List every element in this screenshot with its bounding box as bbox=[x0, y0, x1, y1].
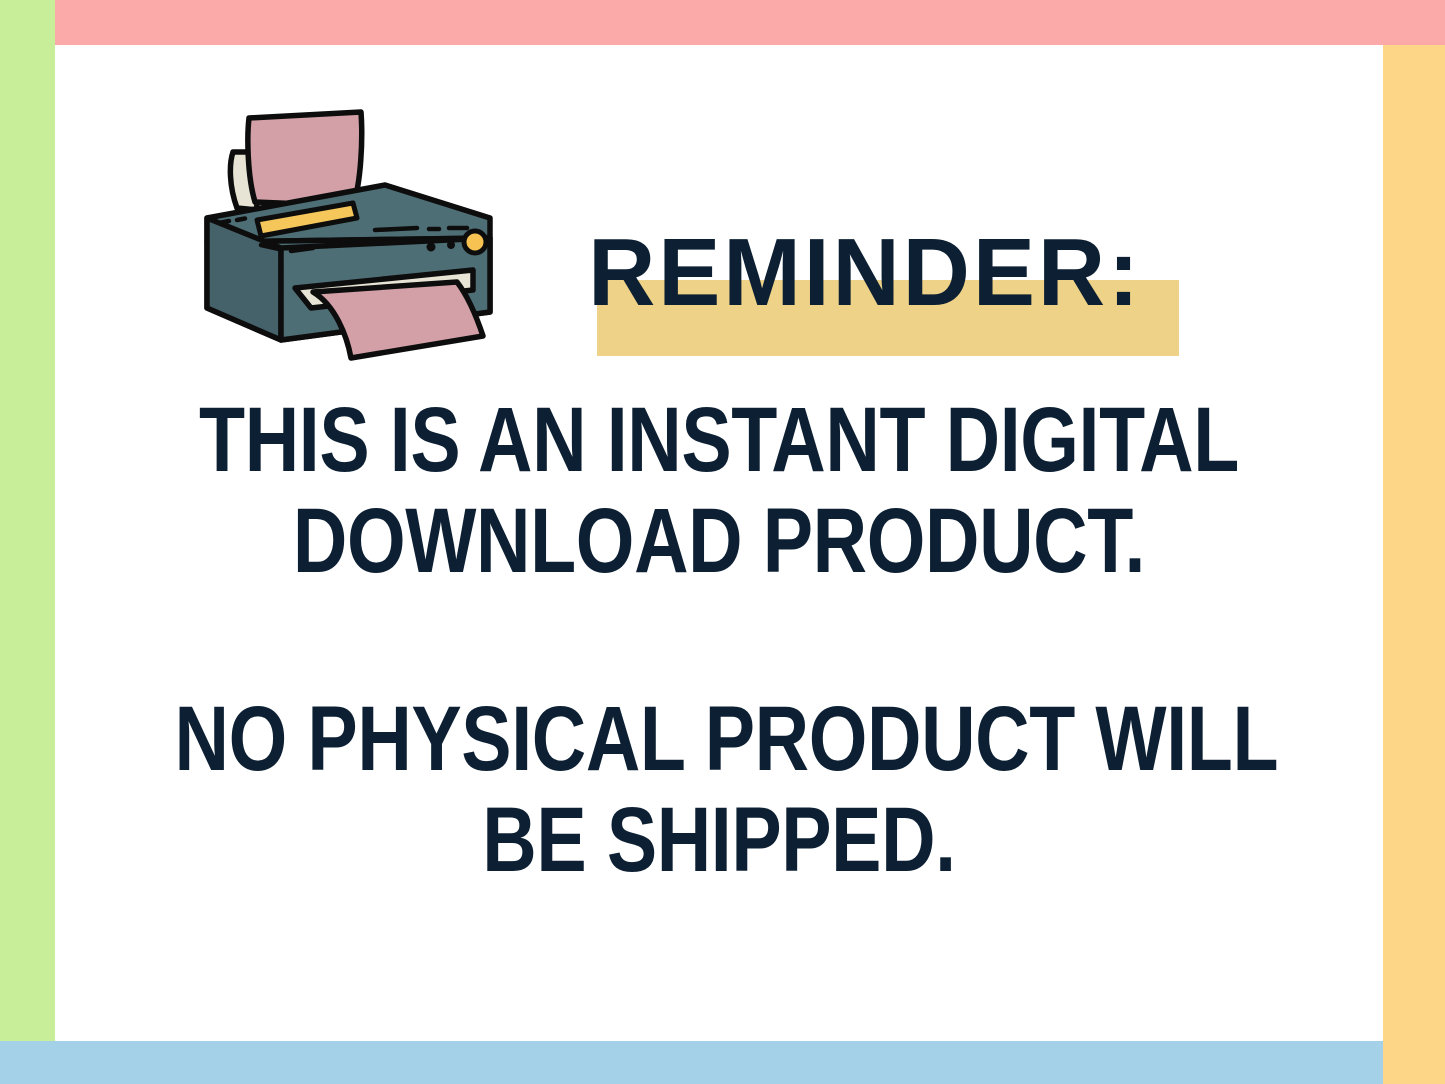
body-line: NO PHYSICAL PRODUCT WILL bbox=[175, 689, 1264, 790]
border-bar-right bbox=[1383, 45, 1445, 1084]
body-line: THIS IS AN INSTANT DIGITAL bbox=[175, 390, 1264, 491]
page-title: REMINDER: bbox=[564, 205, 1165, 340]
body-line: BE SHIPPED. bbox=[175, 790, 1264, 891]
reminder-poster: REMINDER: THIS IS AN INSTANT DIGITAL DOW… bbox=[0, 0, 1445, 1084]
poster-content: REMINDER: THIS IS AN INSTANT DIGITAL DOW… bbox=[55, 45, 1383, 1041]
body-text-block: THIS IS AN INSTANT DIGITAL DOWNLOAD PROD… bbox=[55, 390, 1383, 891]
body-line: DOWNLOAD PRODUCT. bbox=[175, 491, 1264, 592]
border-bar-left bbox=[0, 0, 55, 1041]
paragraph-spacer bbox=[55, 592, 1383, 689]
border-bar-top bbox=[55, 0, 1445, 45]
border-bar-bottom bbox=[0, 1041, 1383, 1084]
printer-icon bbox=[185, 90, 525, 390]
heading-block: REMINDER: bbox=[555, 205, 1175, 385]
